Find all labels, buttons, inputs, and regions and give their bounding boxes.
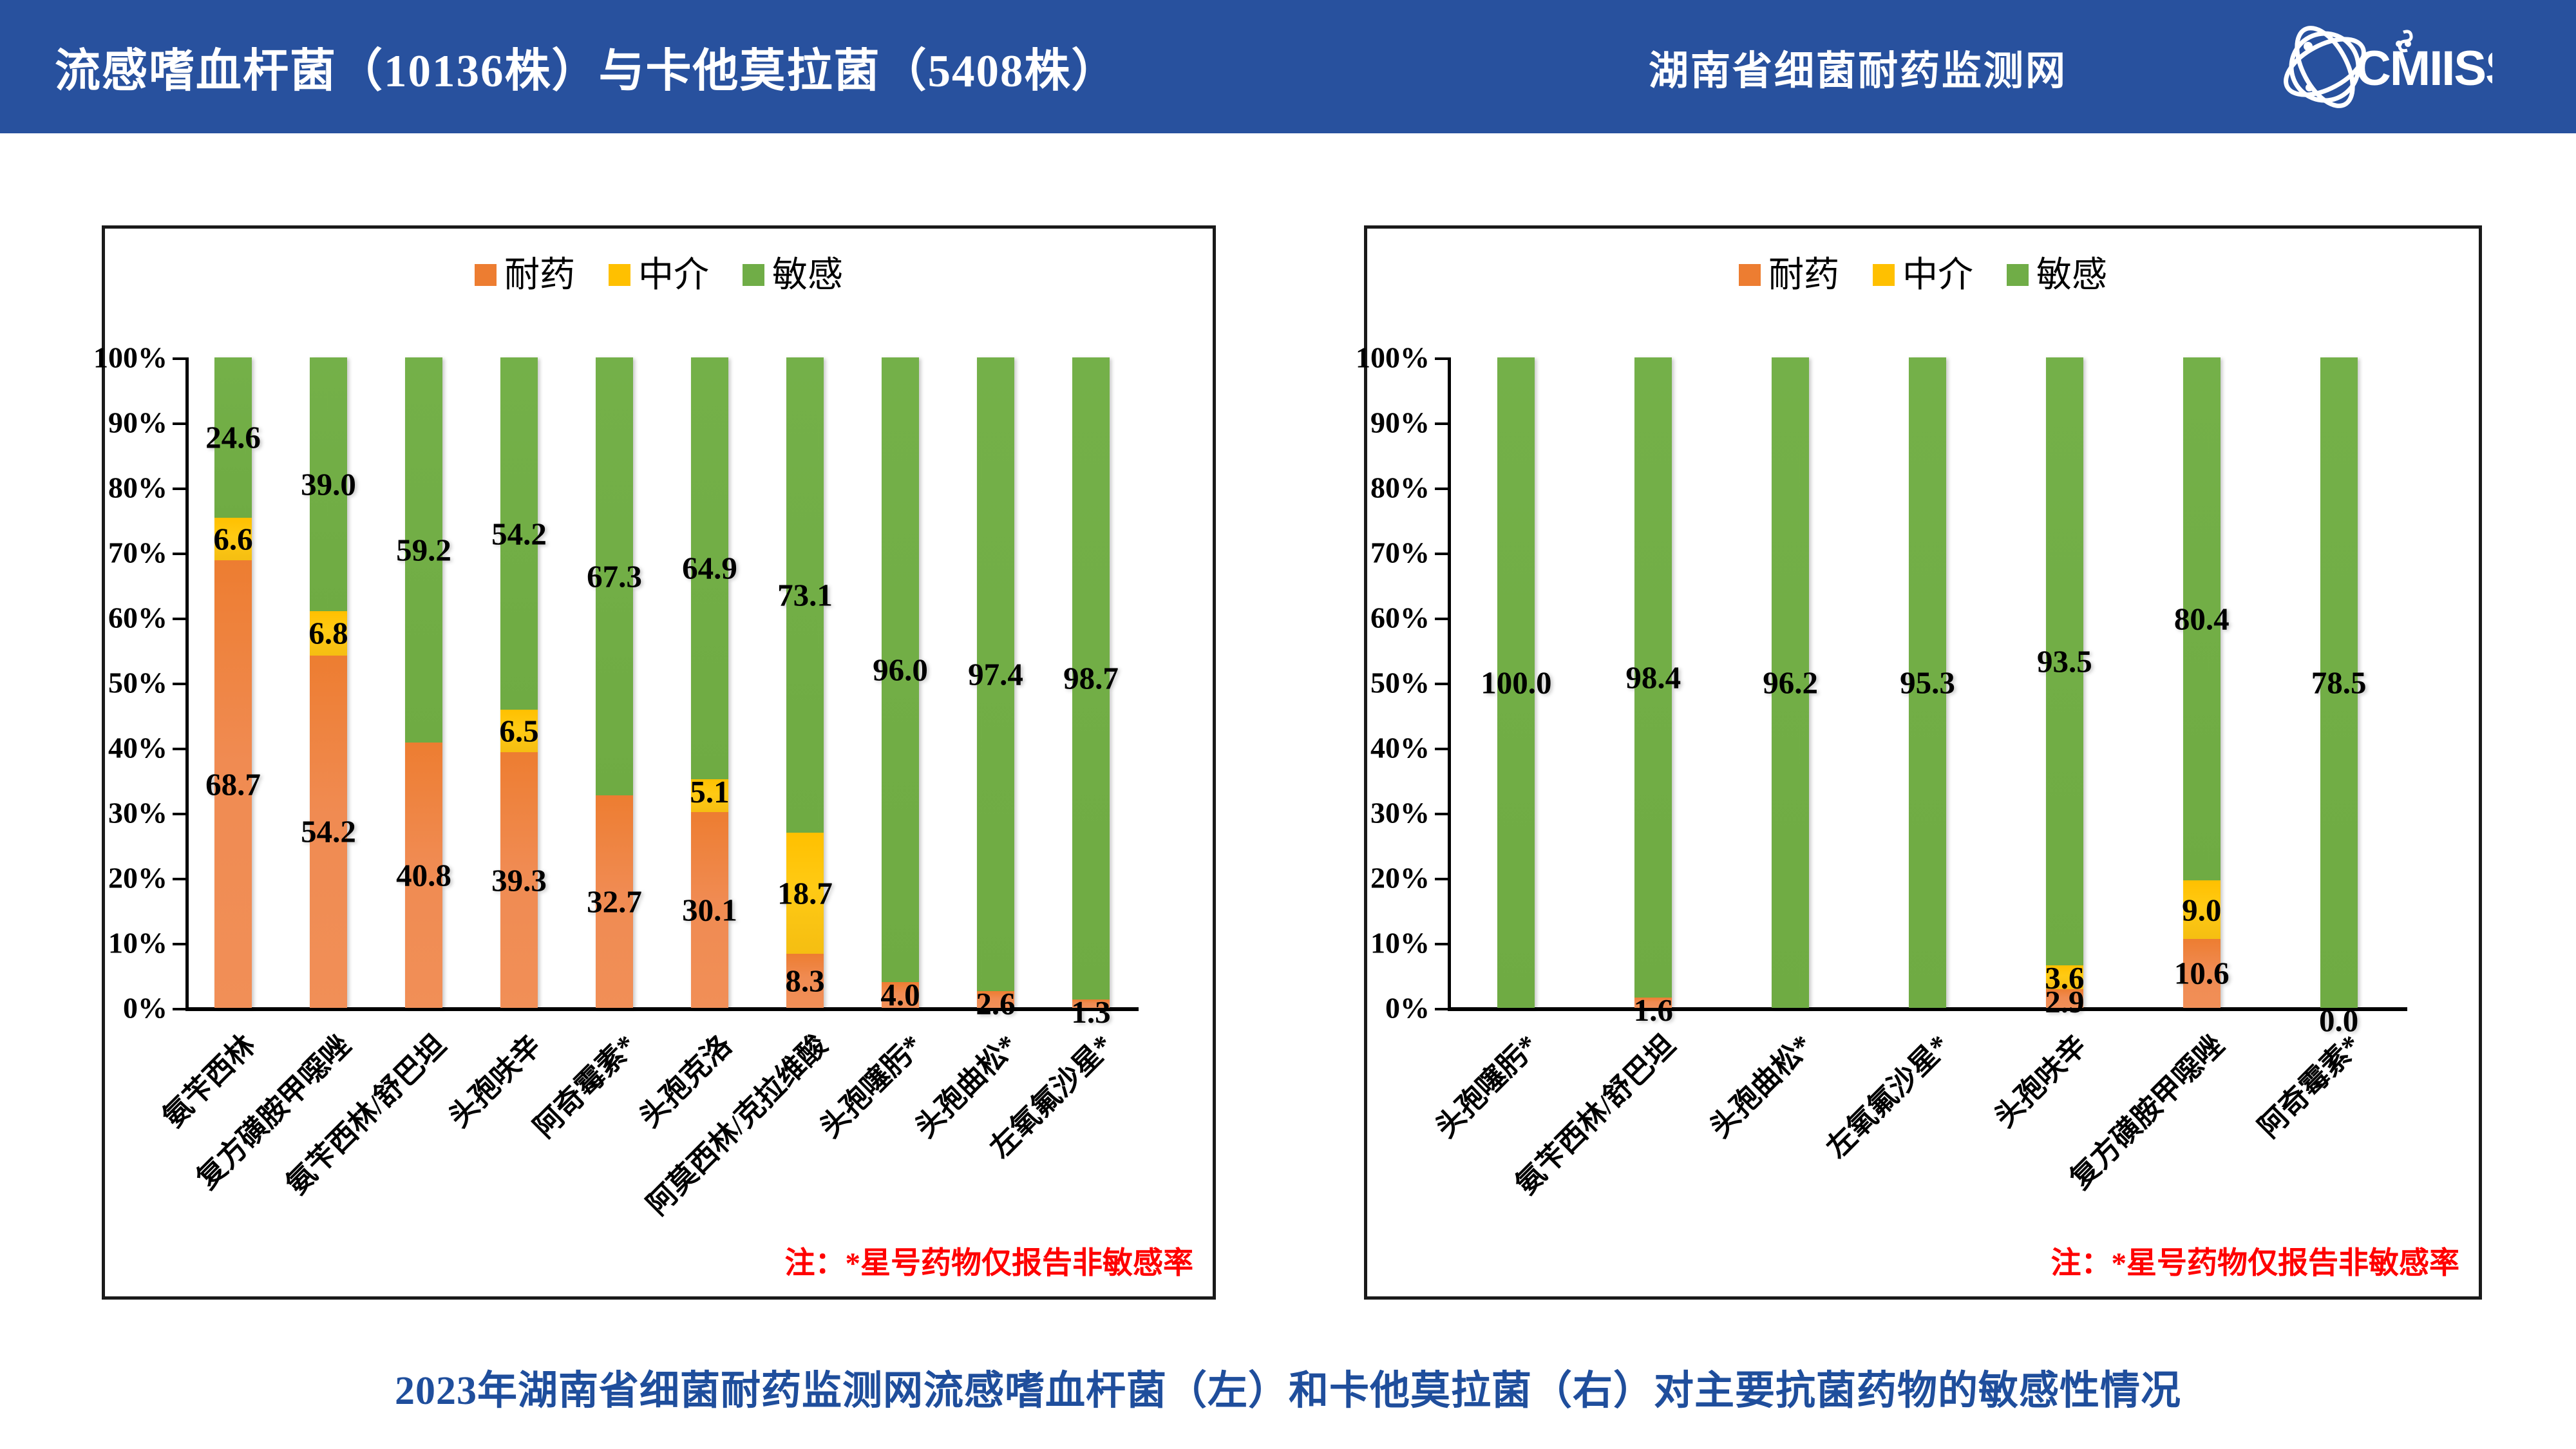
x-axis-label-slot: 复方磺胺甲噁唑 xyxy=(2133,1008,2270,1014)
x-axis-label: 头孢曲松* xyxy=(1698,1023,1820,1145)
y-axis-tick xyxy=(1435,618,1448,620)
bar-segment-sensitive: 39.0 xyxy=(310,357,347,611)
bar-value-label: 24.6 xyxy=(205,422,261,453)
y-axis-tick-label: 30% xyxy=(1370,796,1430,830)
x-axis-label-slot: 阿奇霉素* xyxy=(567,1008,662,1014)
bar-value-label: 98.7 xyxy=(1063,663,1119,694)
bar-value-label: 67.3 xyxy=(587,560,642,592)
bar-segment-intermediate: 6.6 xyxy=(214,518,252,561)
stacked-bar[interactable]: 39.06.854.2 xyxy=(310,357,347,1008)
bar-segment-sensitive: 67.3 xyxy=(596,357,633,795)
chart-legend-right: 耐药 中介 敏感 xyxy=(1367,257,2479,292)
bar-segment-sensitive: 59.2 xyxy=(405,357,442,743)
page-title: 流感嗜血杆菌（10136株）与卡他莫拉菌（5408株） xyxy=(55,34,1119,100)
bar-segment-intermediate: 18.7 xyxy=(786,833,824,954)
stacked-bar[interactable]: 100.0 xyxy=(1497,357,1535,1008)
y-axis-tick-label: 70% xyxy=(1370,536,1430,570)
legend-item-resistant: 耐药 xyxy=(475,257,575,292)
x-axis-label-slot: 头孢克洛 xyxy=(662,1008,757,1014)
svg-text:CMIISS: CMIISS xyxy=(2356,41,2492,96)
y-axis-tick xyxy=(1435,1008,1448,1010)
y-axis-tick xyxy=(173,943,185,945)
y-axis-tick-label: 10% xyxy=(1370,926,1430,960)
stacked-bar[interactable]: 59.20.040.8 xyxy=(405,357,442,1008)
x-axis-label: 头孢噻肟* xyxy=(1424,1023,1546,1145)
x-axis-label: 阿奇霉素* xyxy=(2246,1023,2368,1145)
bar-value-label: 54.2 xyxy=(301,816,356,848)
y-axis-tick-label: 100% xyxy=(93,341,167,375)
bar-segment-sensitive: 54.2 xyxy=(500,357,538,710)
legend-item-sensitive: 敏感 xyxy=(743,257,843,292)
bar-value-label: 18.7 xyxy=(777,877,833,909)
stacked-bar[interactable]: 54.26.539.3 xyxy=(500,357,538,1008)
bar-slot[interactable]: 98.71.3 xyxy=(1043,357,1139,1008)
legend-item-intermediate: 中介 xyxy=(1873,257,1973,292)
bar-segment-resistant: 39.3 xyxy=(500,752,538,1008)
y-axis-tick xyxy=(173,813,185,815)
legend-swatch-intermediate-icon xyxy=(609,264,630,286)
bar-segment-sensitive: 98.4 xyxy=(1634,357,1672,998)
y-axis-tick xyxy=(173,553,185,555)
bar-value-label: 9.0 xyxy=(2182,894,2221,925)
x-axis-label-slot: 左氧氟沙星* xyxy=(1043,1008,1139,1014)
bar-slot[interactable]: 80.49.010.6 xyxy=(2133,357,2270,1008)
bar-segment-resistant: 54.2 xyxy=(310,656,347,1008)
x-axis-label-slot: 头孢曲松* xyxy=(948,1008,1043,1014)
legend-label-intermediate: 中介 xyxy=(1902,257,1973,292)
bar-segment-sensitive: 64.9 xyxy=(691,357,728,779)
bar-segment-resistant: 2.9 xyxy=(2046,989,2083,1008)
bar-value-label: 98.4 xyxy=(1625,661,1681,693)
x-axis-label: 左氧氟沙星* xyxy=(1815,1023,1957,1166)
x-axis-label-slot: 阿莫西林/克拉维酸 xyxy=(757,1008,853,1014)
bar-segment-intermediate: 9.0 xyxy=(2183,880,2221,939)
legend-label-intermediate: 中介 xyxy=(638,257,709,292)
stacked-bar[interactable]: 67.332.7 xyxy=(596,357,633,1008)
bar-series-left: 24.66.668.739.06.854.259.20.040.854.26.5… xyxy=(185,357,1139,1008)
x-axis-label-slot: 头孢曲松* xyxy=(1722,1008,1859,1014)
stacked-bar[interactable]: 73.118.78.3 xyxy=(786,357,824,1008)
y-axis-tick xyxy=(173,878,185,880)
bar-slot[interactable]: 39.06.854.2 xyxy=(281,357,376,1008)
bar-value-label: 8.3 xyxy=(785,965,824,997)
bar-slot[interactable]: 59.20.040.8 xyxy=(376,357,471,1008)
y-axis-tick xyxy=(173,618,185,620)
bar-segment-resistant: 32.7 xyxy=(596,795,633,1008)
chart-panel-haemophilus-influenzae: 耐药 中介 敏感 100%90%80%70%60%50%40%30%20%10%… xyxy=(102,225,1216,1300)
stacked-bar[interactable]: 96.2 xyxy=(1772,357,1809,1008)
x-axis-label-slot: 头孢噻肟* xyxy=(853,1008,948,1014)
legend-swatch-sensitive-icon xyxy=(743,264,764,286)
bar-segment-resistant: 40.8 xyxy=(405,743,442,1008)
x-axis-label: 头孢噻肟* xyxy=(808,1023,930,1145)
bar-value-label: 54.2 xyxy=(491,518,547,549)
y-axis-tick-label: 100% xyxy=(1356,341,1430,375)
legend-swatch-sensitive-icon xyxy=(2007,264,2029,286)
y-axis-tick-label: 20% xyxy=(1370,861,1430,895)
y-axis-tick xyxy=(173,748,185,750)
bar-value-label: 39.0 xyxy=(301,468,356,500)
bar-slot[interactable]: 67.332.7 xyxy=(567,357,662,1008)
bar-value-label: 97.4 xyxy=(968,658,1023,690)
bar-segment-sensitive: 96.2 xyxy=(1772,357,1809,1008)
legend-item-intermediate: 中介 xyxy=(609,257,709,292)
bar-slot[interactable]: 73.118.78.3 xyxy=(757,357,853,1008)
x-axis-labels-right: 头孢噻肟*氨苄西林/舒巴坦头孢曲松*左氧氟沙星*头孢呋辛复方磺胺甲噁唑阿奇霉素* xyxy=(1448,1008,2407,1014)
bar-series-right: 100.098.41.696.295.393.53.62.980.49.010.… xyxy=(1448,357,2407,1008)
y-axis-tick xyxy=(1435,878,1448,880)
stacked-bar[interactable]: 80.49.010.6 xyxy=(2183,357,2221,1008)
bar-value-label: 5.1 xyxy=(690,776,729,808)
bar-value-label: 39.3 xyxy=(491,864,547,896)
y-axis-tick xyxy=(1435,748,1448,750)
y-axis-tick xyxy=(1435,813,1448,815)
legend-label-resistant: 耐药 xyxy=(1768,257,1839,292)
bar-segment-sensitive: 24.6 xyxy=(214,357,252,518)
y-axis-tick-label: 40% xyxy=(1370,731,1430,765)
x-axis-label-slot: 头孢呋辛 xyxy=(471,1008,567,1014)
x-axis-label-slot: 复方磺胺甲噁唑 xyxy=(281,1008,376,1014)
x-axis-labels-left: 氨苄西林复方磺胺甲噁唑氨苄西林/舒巴坦头孢呋辛阿奇霉素*头孢克洛阿莫西林/克拉维… xyxy=(185,1008,1139,1014)
y-axis-tick-label: 80% xyxy=(1370,471,1430,505)
bar-value-label: 10.6 xyxy=(2174,958,2230,989)
bar-value-label: 96.2 xyxy=(1763,667,1818,699)
figure-caption: 2023年湖南省细菌耐药监测网流感嗜血杆菌（左）和卡他莫拉菌（右）对主要抗菌药物… xyxy=(0,1358,2576,1416)
y-axis-tick-label: 90% xyxy=(1370,406,1430,440)
y-axis-tick xyxy=(1435,357,1448,360)
bar-slot[interactable]: 96.2 xyxy=(1722,357,1859,1008)
y-axis-tick-label: 60% xyxy=(108,601,167,635)
bar-value-label: 40.8 xyxy=(396,859,451,891)
x-axis-label-slot: 头孢噻肟* xyxy=(1448,1008,1585,1014)
chart-note-right: 注：*星号药物仅报告非敏感率 xyxy=(2051,1238,2460,1282)
bar-value-label: 2.6 xyxy=(976,988,1015,1019)
x-axis-label-slot: 左氧氟沙星* xyxy=(1859,1008,1996,1014)
y-axis-tick xyxy=(1435,422,1448,425)
bar-segment-sensitive: 95.3 xyxy=(1909,357,1946,1008)
bar-slot[interactable]: 24.66.668.7 xyxy=(185,357,281,1008)
bar-value-label: 32.7 xyxy=(587,885,642,917)
y-axis-tick-label: 30% xyxy=(108,796,167,830)
stacked-bar[interactable]: 24.66.668.7 xyxy=(214,357,252,1008)
bar-segment-sensitive: 98.7 xyxy=(1072,357,1110,999)
cmiiss-logo-icon: CMIISS xyxy=(2280,15,2492,118)
bar-value-label: 78.5 xyxy=(2311,667,2367,699)
bar-segment-sensitive: 96.0 xyxy=(882,357,919,982)
plot-area-left: 100%90%80%70%60%50%40%30%20%10%0% 24.66.… xyxy=(185,357,1139,1008)
bar-value-label: 68.7 xyxy=(205,768,261,800)
stacked-bar[interactable]: 98.71.3 xyxy=(1072,357,1110,1008)
x-axis-label-slot: 氨苄西林 xyxy=(185,1008,281,1014)
legend-item-sensitive: 敏感 xyxy=(2007,257,2107,292)
bar-segment-sensitive: 73.1 xyxy=(786,357,824,833)
y-axis-tick-label: 60% xyxy=(1370,601,1430,635)
legend-label-sensitive: 敏感 xyxy=(772,257,843,292)
plot-area-right: 100%90%80%70%60%50%40%30%20%10%0% 100.09… xyxy=(1448,357,2407,1008)
y-axis-tick-label: 0% xyxy=(123,991,167,1025)
bar-value-label: 93.5 xyxy=(2037,646,2092,677)
bar-value-label: 64.9 xyxy=(682,553,737,584)
y-axis-tick-label: 50% xyxy=(108,666,167,700)
stacked-bar[interactable]: 95.3 xyxy=(1909,357,1946,1008)
x-axis-label-slot: 头孢呋辛 xyxy=(1996,1008,2133,1014)
stacked-bar[interactable]: 97.42.6 xyxy=(977,357,1014,1008)
bar-slot[interactable]: 93.53.62.9 xyxy=(1996,357,2133,1008)
bar-segment-sensitive: 80.4 xyxy=(2183,357,2221,880)
bar-value-label: 59.2 xyxy=(396,534,451,565)
y-axis-tick xyxy=(173,488,185,490)
bar-value-label: 96.0 xyxy=(873,654,928,685)
stacked-bar[interactable]: 78.50.0 xyxy=(2320,357,2358,1008)
bar-segment-resistant: 30.1 xyxy=(691,812,728,1008)
y-axis-tick-label: 20% xyxy=(108,861,167,895)
bar-slot[interactable]: 97.42.6 xyxy=(948,357,1043,1008)
y-axis-tick xyxy=(173,1008,185,1010)
legend-swatch-resistant-icon xyxy=(1739,264,1761,286)
bar-slot[interactable]: 98.41.6 xyxy=(1585,357,1722,1008)
bar-segment-resistant: 2.6 xyxy=(977,991,1014,1008)
bar-segment-resistant: 1.6 xyxy=(1634,998,1672,1008)
bar-value-label: 4.0 xyxy=(880,979,920,1010)
y-axis-tick xyxy=(1435,488,1448,490)
bar-segment-intermediate: 6.5 xyxy=(500,710,538,752)
x-axis-label: 阿奇霉素* xyxy=(522,1023,644,1145)
bar-segment-resistant: 68.7 xyxy=(214,560,252,1008)
y-axis-tick-label: 10% xyxy=(108,926,167,960)
bar-segment-resistant: 10.6 xyxy=(2183,939,2221,1008)
bar-slot[interactable]: 100.0 xyxy=(1448,357,1585,1008)
x-axis-label-slot: 氨苄西林/舒巴坦 xyxy=(1585,1008,1722,1014)
y-axis-tick-label: 70% xyxy=(108,536,167,570)
y-axis-tick xyxy=(1435,943,1448,945)
chart-legend-left: 耐药 中介 敏感 xyxy=(105,257,1213,292)
bar-segment-sensitive: 78.5 xyxy=(2320,357,2358,1008)
bar-slot[interactable]: 78.50.0 xyxy=(2270,357,2407,1008)
bar-segment-sensitive: 97.4 xyxy=(977,357,1014,991)
y-axis-tick xyxy=(1435,553,1448,555)
bar-value-label: 73.1 xyxy=(777,579,833,611)
y-axis-tick-label: 50% xyxy=(1370,666,1430,700)
y-axis-tick xyxy=(173,357,185,360)
y-axis-tick-label: 80% xyxy=(108,471,167,505)
legend-label-resistant: 耐药 xyxy=(504,257,575,292)
y-axis-tick-label: 40% xyxy=(108,731,167,765)
x-axis-label: 头孢呋辛 xyxy=(1983,1023,2094,1135)
legend-swatch-intermediate-icon xyxy=(1873,264,1895,286)
bar-value-label: 80.4 xyxy=(2174,603,2230,635)
y-axis-tick xyxy=(173,422,185,425)
header-bar: 流感嗜血杆菌（10136株）与卡他莫拉菌（5408株） 湖南省细菌耐药监测网 C… xyxy=(0,0,2576,133)
chart-note-left: 注：*星号药物仅报告非敏感率 xyxy=(785,1238,1194,1282)
bar-segment-resistant: 8.3 xyxy=(786,954,824,1008)
legend-swatch-resistant-icon xyxy=(475,264,497,286)
legend-item-resistant: 耐药 xyxy=(1739,257,1839,292)
x-axis-label-slot: 阿奇霉素* xyxy=(2270,1008,2407,1014)
stacked-bar[interactable]: 98.41.6 xyxy=(1634,357,1672,1008)
organization-name: 湖南省细菌耐药监测网 xyxy=(1649,38,2067,96)
bar-slot[interactable]: 54.26.539.3 xyxy=(471,357,567,1008)
y-axis-tick-label: 0% xyxy=(1385,991,1430,1025)
bar-segment-intermediate: 5.1 xyxy=(691,779,728,812)
bar-segment-sensitive: 93.5 xyxy=(2046,357,2083,965)
bar-value-label: 95.3 xyxy=(1900,667,1955,699)
bar-slot[interactable]: 96.04.0 xyxy=(853,357,948,1008)
bar-slot[interactable]: 64.95.130.1 xyxy=(662,357,757,1008)
x-axis-label-slot: 氨苄西林/舒巴坦 xyxy=(376,1008,471,1014)
bar-value-label: 100.0 xyxy=(1481,667,1551,699)
bar-segment-resistant: 4.0 xyxy=(882,982,919,1008)
bar-value-label: 6.6 xyxy=(213,524,252,555)
stacked-bar[interactable]: 93.53.62.9 xyxy=(2046,357,2083,1008)
legend-label-sensitive: 敏感 xyxy=(2036,257,2107,292)
y-axis-tick-label: 90% xyxy=(108,406,167,440)
bar-segment-intermediate: 6.8 xyxy=(310,611,347,656)
y-axis-tick xyxy=(173,683,185,685)
bar-slot[interactable]: 95.3 xyxy=(1859,357,1996,1008)
bar-segment-sensitive: 100.0 xyxy=(1497,357,1535,1008)
bar-value-label: 6.5 xyxy=(499,715,538,747)
bar-value-label: 30.1 xyxy=(682,895,737,926)
chart-panel-moraxella-catarrhalis: 耐药 中介 敏感 100%90%80%70%60%50%40%30%20%10%… xyxy=(1364,225,2482,1300)
bar-segment-resistant: 1.3 xyxy=(1072,999,1110,1008)
stacked-bar[interactable]: 64.95.130.1 xyxy=(691,357,728,1008)
stacked-bar[interactable]: 96.04.0 xyxy=(882,357,919,1008)
y-axis-tick xyxy=(1435,683,1448,685)
bar-value-label: 6.8 xyxy=(308,618,348,649)
